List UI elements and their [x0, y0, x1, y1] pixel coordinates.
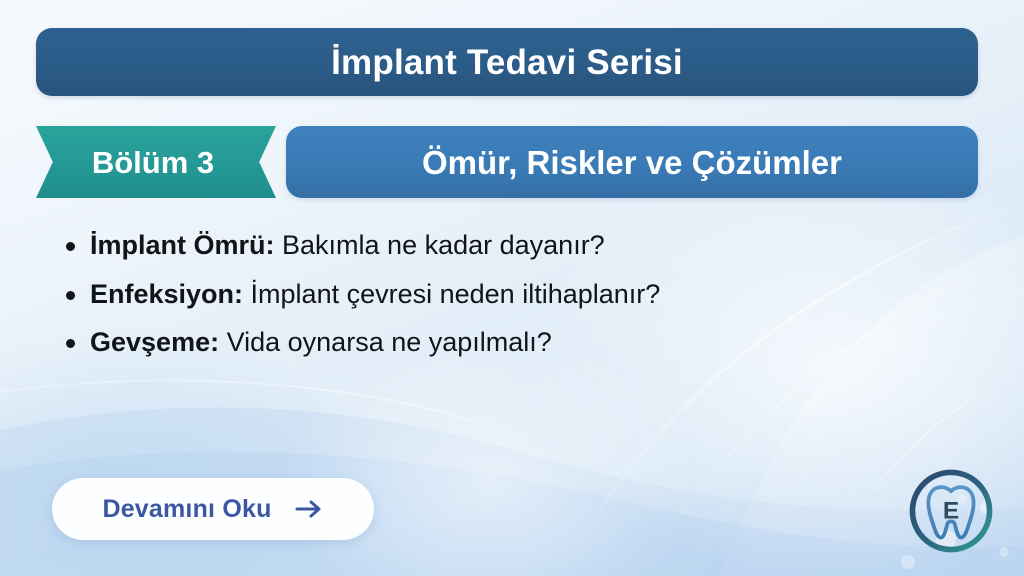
list-item-rest: Vida oynarsa ne yapılmalı? [219, 327, 552, 357]
list-item-lead: Enfeksiyon: [90, 279, 243, 309]
list-item: İmplant Ömrü: Bakımla ne kadar dayanır? [58, 228, 958, 263]
slide-canvas: İmplant Tedavi Serisi Bölüm 3 Ömür, Risk… [0, 0, 1024, 576]
bullet-dot-icon [66, 242, 75, 251]
chapter-row: Bölüm 3 Ömür, Riskler ve Çözümler [36, 126, 978, 198]
bullet-dot-icon [66, 291, 75, 300]
list-item-rest: Bakımla ne kadar dayanır? [275, 230, 605, 260]
topic-list: İmplant Ömrü: Bakımla ne kadar dayanır? … [58, 228, 958, 360]
chapter-title-bar: Ömür, Riskler ve Çözümler [286, 126, 978, 198]
list-item-rest: İmplant çevresi neden iltihaplanır? [243, 279, 660, 309]
chapter-title: Ömür, Riskler ve Çözümler [422, 146, 842, 179]
list-item: Enfeksiyon: İmplant çevresi neden iltiha… [58, 277, 958, 312]
list-item: Gevşeme: Vida oynarsa ne yapılmalı? [58, 325, 958, 360]
chapter-number-badge: Bölüm 3 [36, 126, 276, 198]
read-more-label: Devamını Oku [102, 497, 271, 522]
arrow-right-icon [294, 497, 324, 521]
series-title-bar: İmplant Tedavi Serisi [36, 28, 978, 96]
chapter-badge-label: Bölüm 3 [92, 147, 220, 178]
tooth-logo-icon: E [904, 464, 998, 558]
list-item-lead: Gevşeme: [90, 327, 219, 357]
page-title: İmplant Tedavi Serisi [331, 45, 683, 80]
list-item-lead: İmplant Ömrü: [90, 230, 275, 260]
svg-text:E: E [943, 498, 959, 525]
read-more-button[interactable]: Devamını Oku [52, 478, 374, 540]
bullet-dot-icon [66, 339, 75, 348]
